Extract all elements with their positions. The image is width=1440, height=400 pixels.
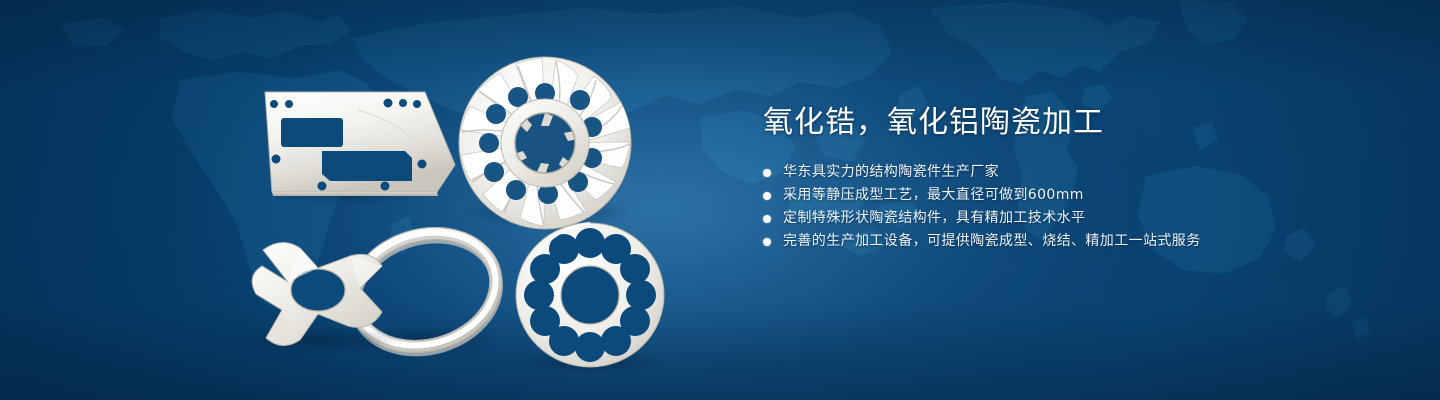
list-item: 采用等静压成型工艺，最大直径可做到600mm xyxy=(763,184,1383,207)
list-item: 定制特殊形状陶瓷结构件，具有精加工技术水平 xyxy=(763,207,1383,230)
promotional-banner: 氧化锆，氧化铝陶瓷加工 华东具实力的结构陶瓷件生产厂家 采用等静压成型工艺，最大… xyxy=(0,0,1440,400)
bullet-dot-icon xyxy=(763,169,771,177)
bullet-dot-icon xyxy=(763,192,771,200)
bullet-dot-icon xyxy=(763,238,771,246)
product-image-group xyxy=(0,0,760,400)
feature-list: 华东具实力的结构陶瓷件生产厂家 采用等静压成型工艺，最大直径可做到600mm 定… xyxy=(763,161,1383,253)
ceramic-perforated-disc xyxy=(516,223,664,374)
ceramic-impeller xyxy=(459,57,634,229)
feature-text: 采用等静压成型工艺，最大直径可做到600mm xyxy=(783,184,1084,207)
list-item: 完善的生产加工设备，可提供陶瓷成型、烧结、精加工一站式服务 xyxy=(763,230,1383,253)
list-item: 华东具实力的结构陶瓷件生产厂家 xyxy=(763,161,1383,184)
feature-text: 定制特殊形状陶瓷结构件，具有精加工技术水平 xyxy=(783,207,1085,230)
ceramic-plate xyxy=(253,92,455,205)
banner-copy: 氧化锆，氧化铝陶瓷加工 华东具实力的结构陶瓷件生产厂家 采用等静压成型工艺，最大… xyxy=(763,104,1383,253)
ceramic-cross-piece xyxy=(240,242,400,354)
feature-text: 华东具实力的结构陶瓷件生产厂家 xyxy=(783,161,999,184)
banner-headline: 氧化锆，氧化铝陶瓷加工 xyxy=(763,104,1383,142)
feature-text: 完善的生产加工设备，可提供陶瓷成型、烧结、精加工一站式服务 xyxy=(783,230,1201,253)
bullet-dot-icon xyxy=(763,215,771,223)
